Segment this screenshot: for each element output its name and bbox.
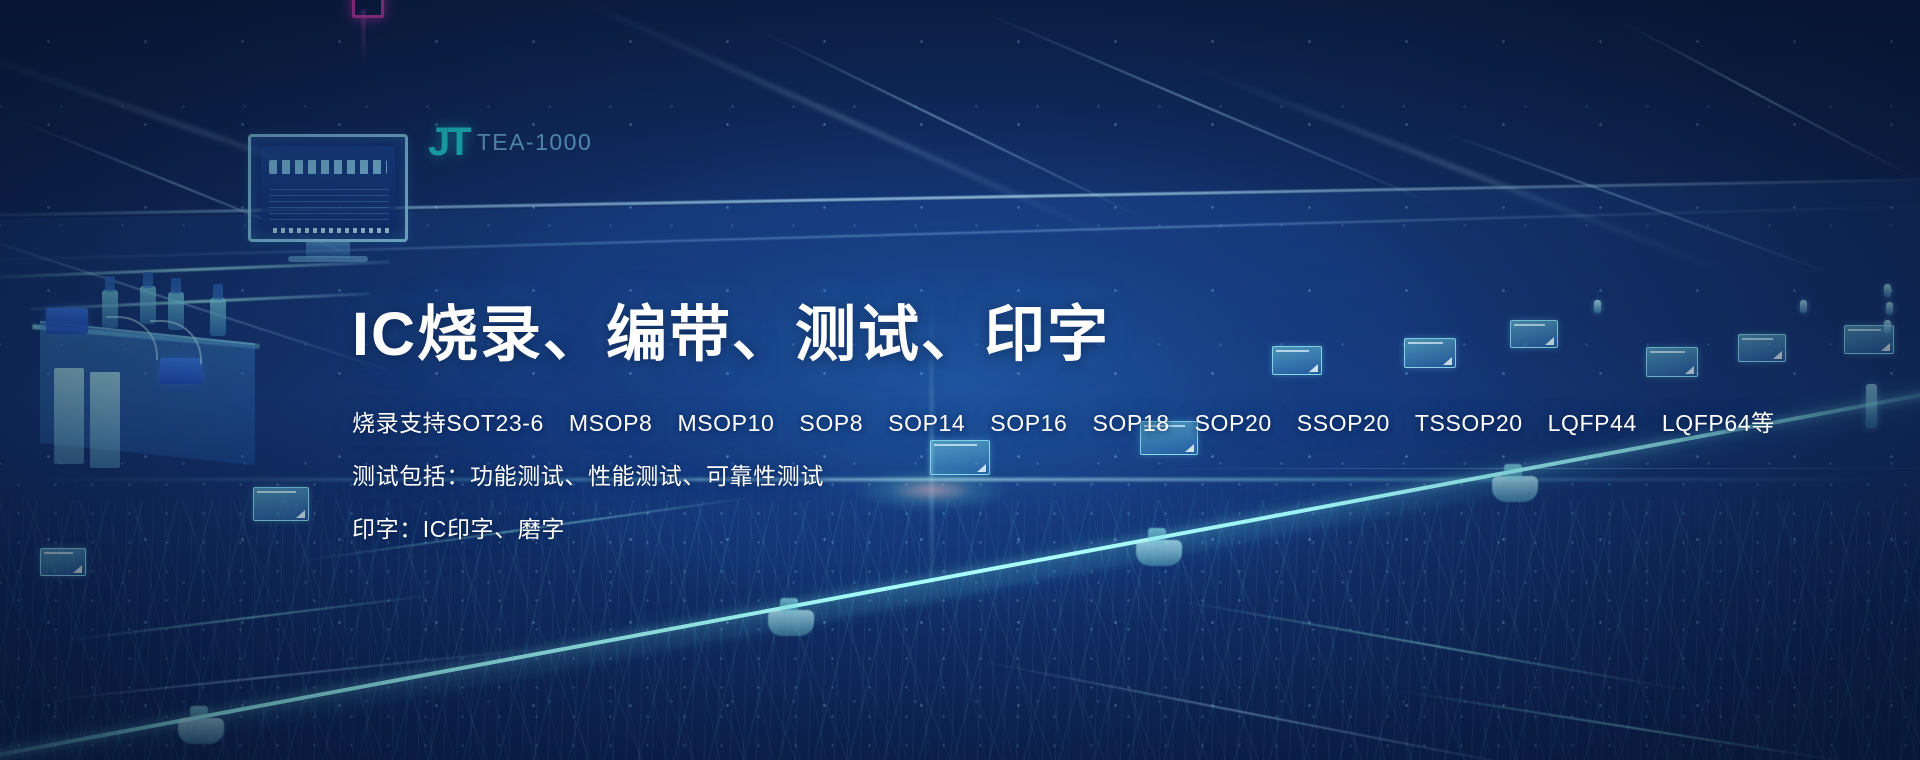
service-detail-list: 烧录支持SOT23-6 MSOP8 MSOP10 SOP8 SOP14 SOP1… <box>352 412 1752 541</box>
package-label: SOP14 <box>888 412 965 435</box>
printing-scope-line: 印字：IC印字、磨字 <box>352 518 1752 541</box>
burn-prefix-label: 烧录支持SOT23-6 <box>352 412 544 435</box>
package-label: SOP8 <box>799 412 863 435</box>
package-label: LQFP64等 <box>1662 412 1775 435</box>
package-label: MSOP8 <box>569 412 653 435</box>
ic-services-banner: JT TEA-1000 IC烧录、编带、测试、印字 烧录支持SOT23-6 MS… <box>0 0 1920 760</box>
test-scope-line: 测试包括：功能测试、性能测试、可靠性测试 <box>352 465 1752 488</box>
package-label: MSOP10 <box>677 412 774 435</box>
burn-support-line: 烧录支持SOT23-6 MSOP8 MSOP10 SOP8 SOP14 SOP1… <box>352 412 1752 435</box>
package-label: SSOP20 <box>1297 412 1390 435</box>
package-label: SOP16 <box>990 412 1067 435</box>
package-label: SOP18 <box>1092 412 1169 435</box>
package-label: TSSOP20 <box>1415 412 1523 435</box>
banner-content: IC烧录、编带、测试、印字 烧录支持SOT23-6 MSOP8 MSOP10 S… <box>352 300 1752 541</box>
page-title: IC烧录、编带、测试、印字 <box>352 300 1752 368</box>
package-label: LQFP44 <box>1548 412 1637 435</box>
package-label: SOP20 <box>1195 412 1272 435</box>
